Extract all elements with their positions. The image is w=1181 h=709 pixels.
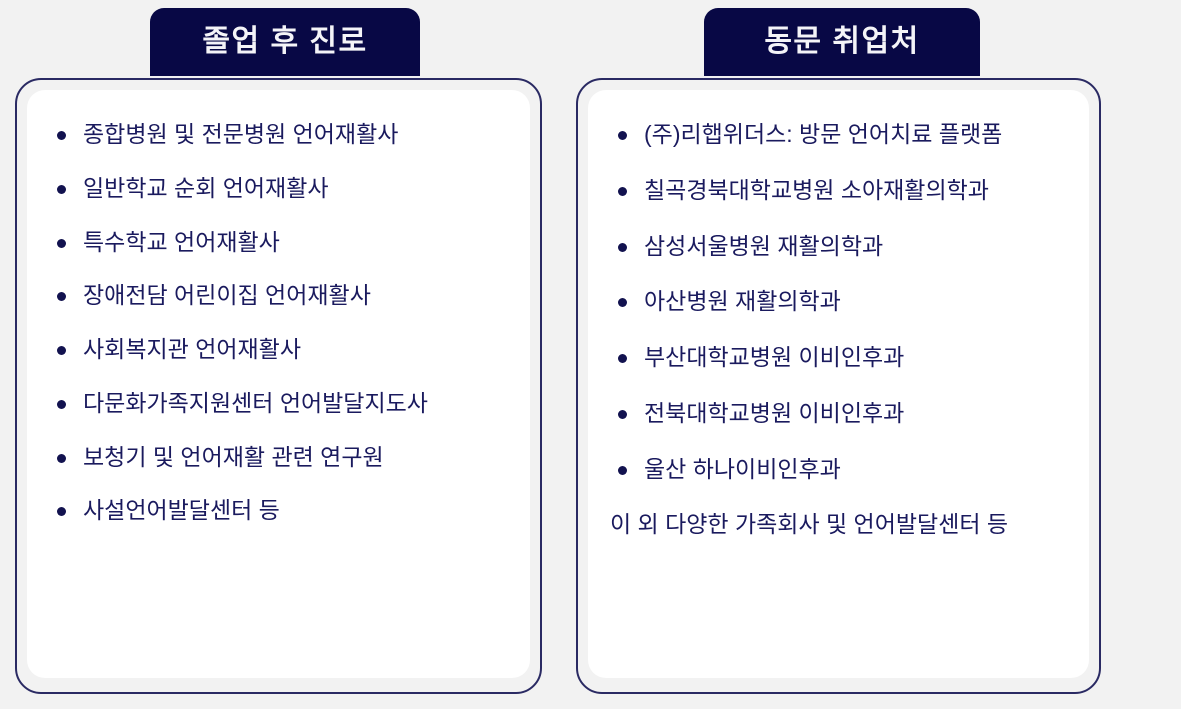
list-item-label: 사설언어발달센터 등 bbox=[83, 497, 280, 523]
list-item-label: 전북대학교병원 이비인후과 bbox=[644, 400, 904, 426]
career-paths-list: 종합병원 및 전문병원 언어재활사 일반학교 순회 언어재활사 특수학교 언어재… bbox=[49, 120, 508, 525]
bullet-icon bbox=[57, 239, 66, 248]
bullet-icon bbox=[57, 400, 66, 409]
list-item: 장애전담 어린이집 언어재활사 bbox=[49, 281, 508, 310]
bullet-icon bbox=[618, 410, 627, 419]
list-item: 사회복지관 언어재활사 bbox=[49, 335, 508, 364]
list-item: 삼성서울병원 재활의학과 bbox=[610, 232, 1067, 261]
bullet-icon bbox=[618, 466, 627, 475]
panel-career-paths: 졸업 후 진로 종합병원 및 전문병원 언어재활사 일반학교 순회 언어재활사 … bbox=[15, 0, 542, 696]
list-item-label: 사회복지관 언어재활사 bbox=[83, 336, 301, 362]
list-item-label: 아산병원 재활의학과 bbox=[644, 288, 841, 314]
panel-content-alumni-employers: (주)리햅위더스: 방문 언어치료 플랫폼 칠곡경북대학교병원 소아재활의학과 … bbox=[588, 90, 1089, 678]
list-item: 보청기 및 언어재활 관련 연구원 bbox=[49, 443, 508, 472]
panel-content-career-paths: 종합병원 및 전문병원 언어재활사 일반학교 순회 언어재활사 특수학교 언어재… bbox=[27, 90, 530, 678]
bullet-icon bbox=[57, 185, 66, 194]
list-item-label: 일반학교 순회 언어재활사 bbox=[83, 175, 329, 201]
alumni-employers-footnote: 이 외 다양한 가족회사 및 언어발달센터 등 bbox=[610, 510, 1067, 539]
list-item: 특수학교 언어재활사 bbox=[49, 228, 508, 257]
list-item: 사설언어발달센터 등 bbox=[49, 496, 508, 525]
list-item-label: 다문화가족지원센터 언어발달지도사 bbox=[83, 390, 428, 416]
bullet-icon bbox=[618, 298, 627, 307]
panel-header-career-paths: 졸업 후 진로 bbox=[150, 8, 420, 76]
alumni-employers-list: (주)리햅위더스: 방문 언어치료 플랫폼 칠곡경북대학교병원 소아재활의학과 … bbox=[610, 120, 1067, 483]
bullet-icon bbox=[57, 346, 66, 355]
bullet-icon bbox=[57, 131, 66, 140]
list-item-label: 삼성서울병원 재활의학과 bbox=[644, 233, 883, 259]
list-item: 칠곡경북대학교병원 소아재활의학과 bbox=[610, 176, 1067, 205]
bullet-icon bbox=[618, 354, 627, 363]
list-item-label: 종합병원 및 전문병원 언어재활사 bbox=[83, 121, 398, 147]
bullet-icon bbox=[618, 243, 627, 252]
list-item: 아산병원 재활의학과 bbox=[610, 287, 1067, 316]
list-item-label: (주)리햅위더스: 방문 언어치료 플랫폼 bbox=[644, 121, 1002, 147]
list-item-label: 울산 하나이비인후과 bbox=[644, 456, 841, 482]
panel-title-career-paths: 졸업 후 진로 bbox=[202, 27, 367, 57]
bullet-icon bbox=[618, 131, 627, 140]
list-item: 부산대학교병원 이비인후과 bbox=[610, 343, 1067, 372]
list-item: (주)리햅위더스: 방문 언어치료 플랫폼 bbox=[610, 120, 1067, 149]
list-item-label: 부산대학교병원 이비인후과 bbox=[644, 344, 904, 370]
panel-card-career-paths: 종합병원 및 전문병원 언어재활사 일반학교 순회 언어재활사 특수학교 언어재… bbox=[15, 78, 542, 694]
list-item: 울산 하나이비인후과 bbox=[610, 455, 1067, 484]
bullet-icon bbox=[57, 454, 66, 463]
list-item: 종합병원 및 전문병원 언어재활사 bbox=[49, 120, 508, 149]
list-item: 다문화가족지원센터 언어발달지도사 bbox=[49, 389, 508, 418]
bullet-icon bbox=[57, 292, 66, 301]
bullet-icon bbox=[57, 507, 66, 516]
list-item-label: 보청기 및 언어재활 관련 연구원 bbox=[83, 444, 384, 470]
list-item-label: 장애전담 어린이집 언어재활사 bbox=[83, 282, 371, 308]
list-item-label: 칠곡경북대학교병원 소아재활의학과 bbox=[644, 177, 989, 203]
panel-card-alumni-employers: (주)리햅위더스: 방문 언어치료 플랫폼 칠곡경북대학교병원 소아재활의학과 … bbox=[576, 78, 1101, 694]
panel-header-alumni-employers: 동문 취업처 bbox=[704, 8, 980, 76]
panel-alumni-employers: 동문 취업처 (주)리햅위더스: 방문 언어치료 플랫폼 칠곡경북대학교병원 소… bbox=[576, 0, 1101, 696]
panel-title-alumni-employers: 동문 취업처 bbox=[764, 27, 919, 57]
two-panel-board: 졸업 후 진로 종합병원 및 전문병원 언어재활사 일반학교 순회 언어재활사 … bbox=[0, 0, 1181, 709]
list-item: 일반학교 순회 언어재활사 bbox=[49, 174, 508, 203]
list-item-label: 특수학교 언어재활사 bbox=[83, 229, 280, 255]
list-item: 전북대학교병원 이비인후과 bbox=[610, 399, 1067, 428]
bullet-icon bbox=[618, 187, 627, 196]
